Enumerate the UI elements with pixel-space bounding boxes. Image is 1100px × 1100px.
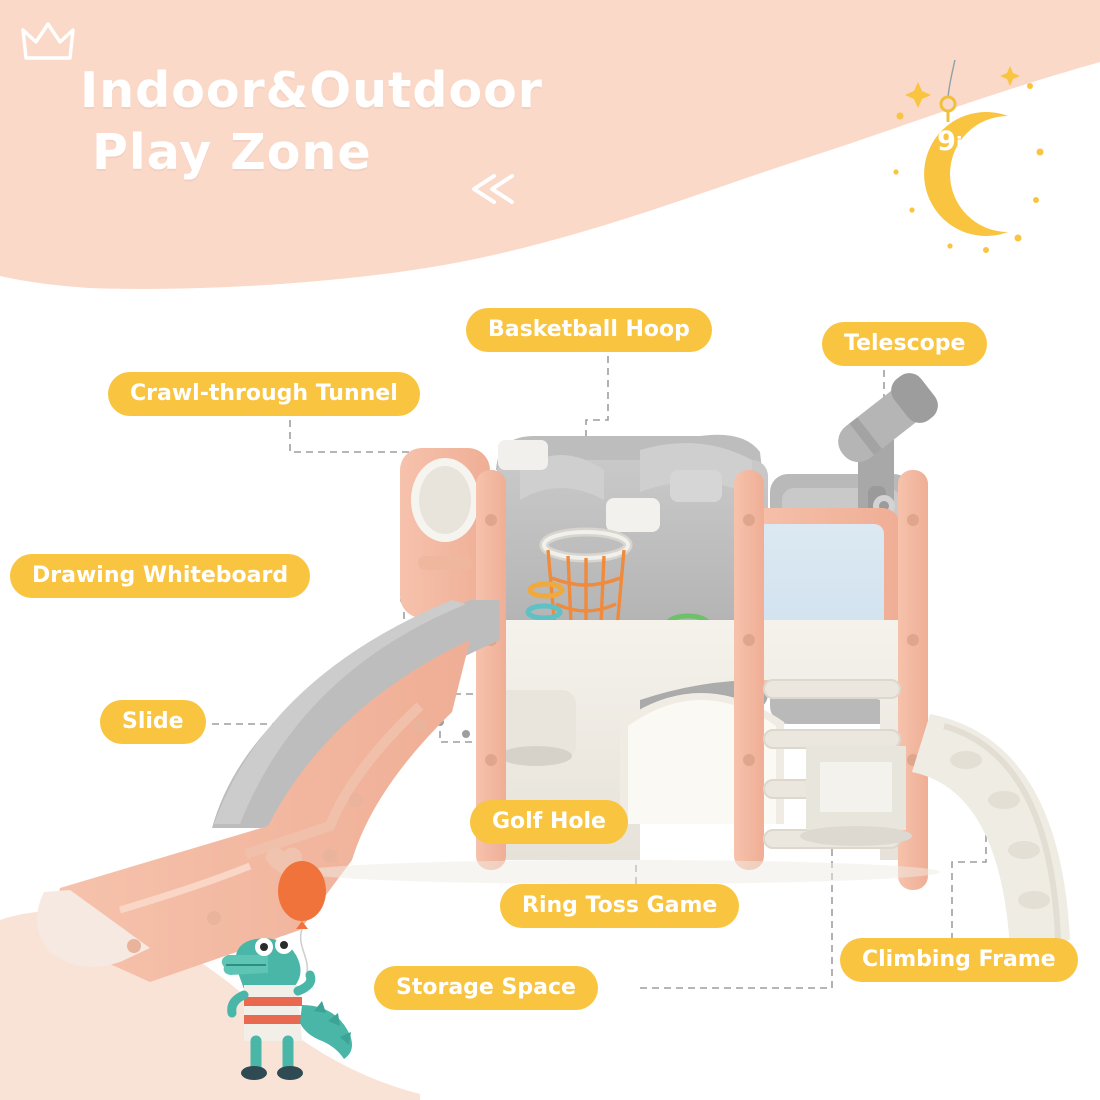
golf-hole-part [496, 690, 576, 766]
callout-crawl-through-tunnel[interactable]: Crawl-through Tunnel [108, 372, 420, 416]
crocodile-mascot [210, 855, 390, 1100]
callout-ring-toss-game[interactable]: Ring Toss Game [500, 884, 739, 928]
crocodile-body [222, 936, 352, 1080]
callout-drawing-whiteboard[interactable]: Drawing Whiteboard [10, 554, 310, 598]
play-set-illustration [0, 0, 1100, 1100]
callout-slide[interactable]: Slide [100, 700, 206, 744]
callout-climbing-frame[interactable]: Climbing Frame [840, 938, 1078, 982]
callout-telescope[interactable]: Telescope [822, 322, 987, 366]
post-mid [734, 470, 764, 870]
callout-golf-hole[interactable]: Golf Hole [470, 800, 628, 844]
storage-space-part [800, 746, 912, 846]
climbing-ramp-part [912, 714, 1070, 948]
product-infographic: Indoor&Outdoor Play Zone [0, 0, 1100, 1100]
callout-storage-space[interactable]: Storage Space [374, 966, 598, 1010]
callout-basketball-hoop[interactable]: Basketball Hoop [466, 308, 712, 352]
